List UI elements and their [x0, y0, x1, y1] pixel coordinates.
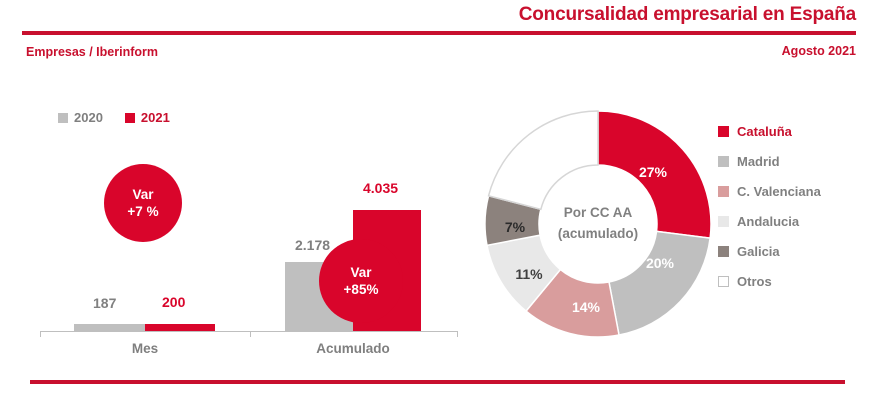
donut-legend-label-otros: Otros [737, 275, 772, 288]
donut-legend-label-c-valenciana: C. Valenciana [737, 185, 821, 198]
donut-label-cataluna: 27% [639, 164, 667, 180]
legend-swatch-andalucia [718, 216, 729, 227]
variation-bubble-mes-line1: Var [132, 186, 153, 203]
variation-bubble-acumulado: Var +85% [319, 239, 403, 323]
category-label-acumulado: Acumulado [285, 341, 421, 356]
donut-legend-item-cataluna: Cataluña [718, 125, 821, 138]
donut-slice-madrid [609, 231, 710, 335]
donut-legend-item-andalucia: Andalucia [718, 215, 821, 228]
bar-chart-axis [40, 331, 457, 332]
variation-bubble-mes-line2: +7 % [127, 203, 158, 220]
source-label: Empresas / Iberinform [26, 45, 158, 59]
legend-swatch-cataluna [718, 126, 729, 137]
donut-legend-label-cataluna: Cataluña [737, 125, 792, 138]
variation-bubble-mes: Var +7 % [104, 164, 182, 242]
axis-tick-center [250, 331, 251, 337]
period-label: Agosto 2021 [782, 44, 856, 58]
legend-swatch-madrid [718, 156, 729, 167]
donut-chart-legend: Cataluña Madrid C. Valenciana Andalucia … [718, 125, 821, 288]
bar-value-acumulado-2021: 4.035 [363, 180, 398, 196]
donut-label-madrid: 20% [646, 255, 674, 271]
donut-slice-otros [489, 111, 598, 209]
donut-legend-item-otros: Otros [718, 275, 821, 288]
donut-legend-item-galicia: Galicia [718, 245, 821, 258]
donut-legend-label-madrid: Madrid [737, 155, 780, 168]
category-label-mes: Mes [74, 341, 216, 356]
donut-legend-item-madrid: Madrid [718, 155, 821, 168]
bar-chart: 2020 2021 187 200 Mes 2.178 4.035 Acumul… [0, 95, 478, 360]
axis-tick-right [457, 331, 458, 337]
donut-legend-item-c-valenciana: C. Valenciana [718, 185, 821, 198]
bar-mes-2020 [74, 324, 145, 331]
header-divider-rule [22, 31, 856, 35]
donut-label-andalucia: 11% [515, 266, 542, 282]
variation-bubble-acumulado-line2: +85% [344, 281, 379, 298]
legend-swatch-galicia [718, 246, 729, 257]
axis-tick-left [40, 331, 41, 337]
donut-label-c-valenciana: 14% [572, 299, 600, 315]
donut-chart: Por CC AA (acumulado) 27% 20% 14% 11% 7% [482, 108, 714, 340]
legend-swatch-otros [718, 276, 729, 287]
legend-swatch-c-valenciana [718, 186, 729, 197]
footer-divider-rule [30, 380, 845, 384]
bar-value-mes-2020: 187 [93, 295, 116, 311]
page-title: Concursalidad empresarial en España [519, 4, 856, 26]
donut-label-galicia: 7% [505, 219, 525, 235]
legend-swatch-2020 [58, 113, 68, 123]
bar-value-mes-2021: 200 [162, 294, 185, 310]
donut-legend-label-galicia: Galicia [737, 245, 780, 258]
donut-legend-label-andalucia: Andalucia [737, 215, 799, 228]
bar-mes-2021 [145, 324, 215, 331]
slide-canvas: Concursalidad empresarial en España Empr… [0, 0, 878, 402]
variation-bubble-acumulado-line1: Var [350, 264, 371, 281]
bar-value-acumulado-2020: 2.178 [295, 237, 330, 253]
